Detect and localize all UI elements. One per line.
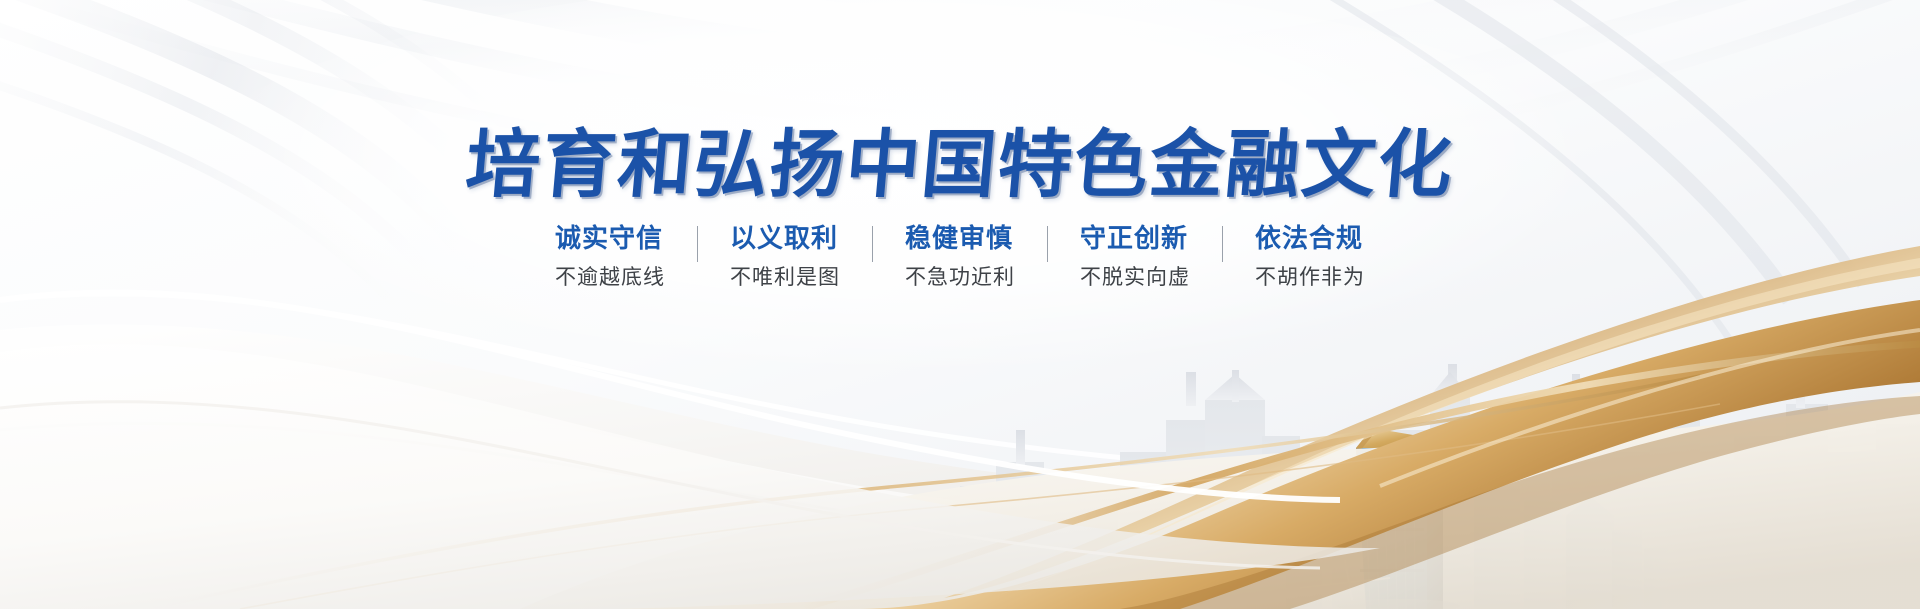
foreground-silk-overlay	[0, 0, 1920, 609]
banner-root: 培育和弘扬中国特色金融文化 诚实守信 不逾越底线 以义取利 不唯利是图 稳健审慎…	[0, 0, 1920, 609]
